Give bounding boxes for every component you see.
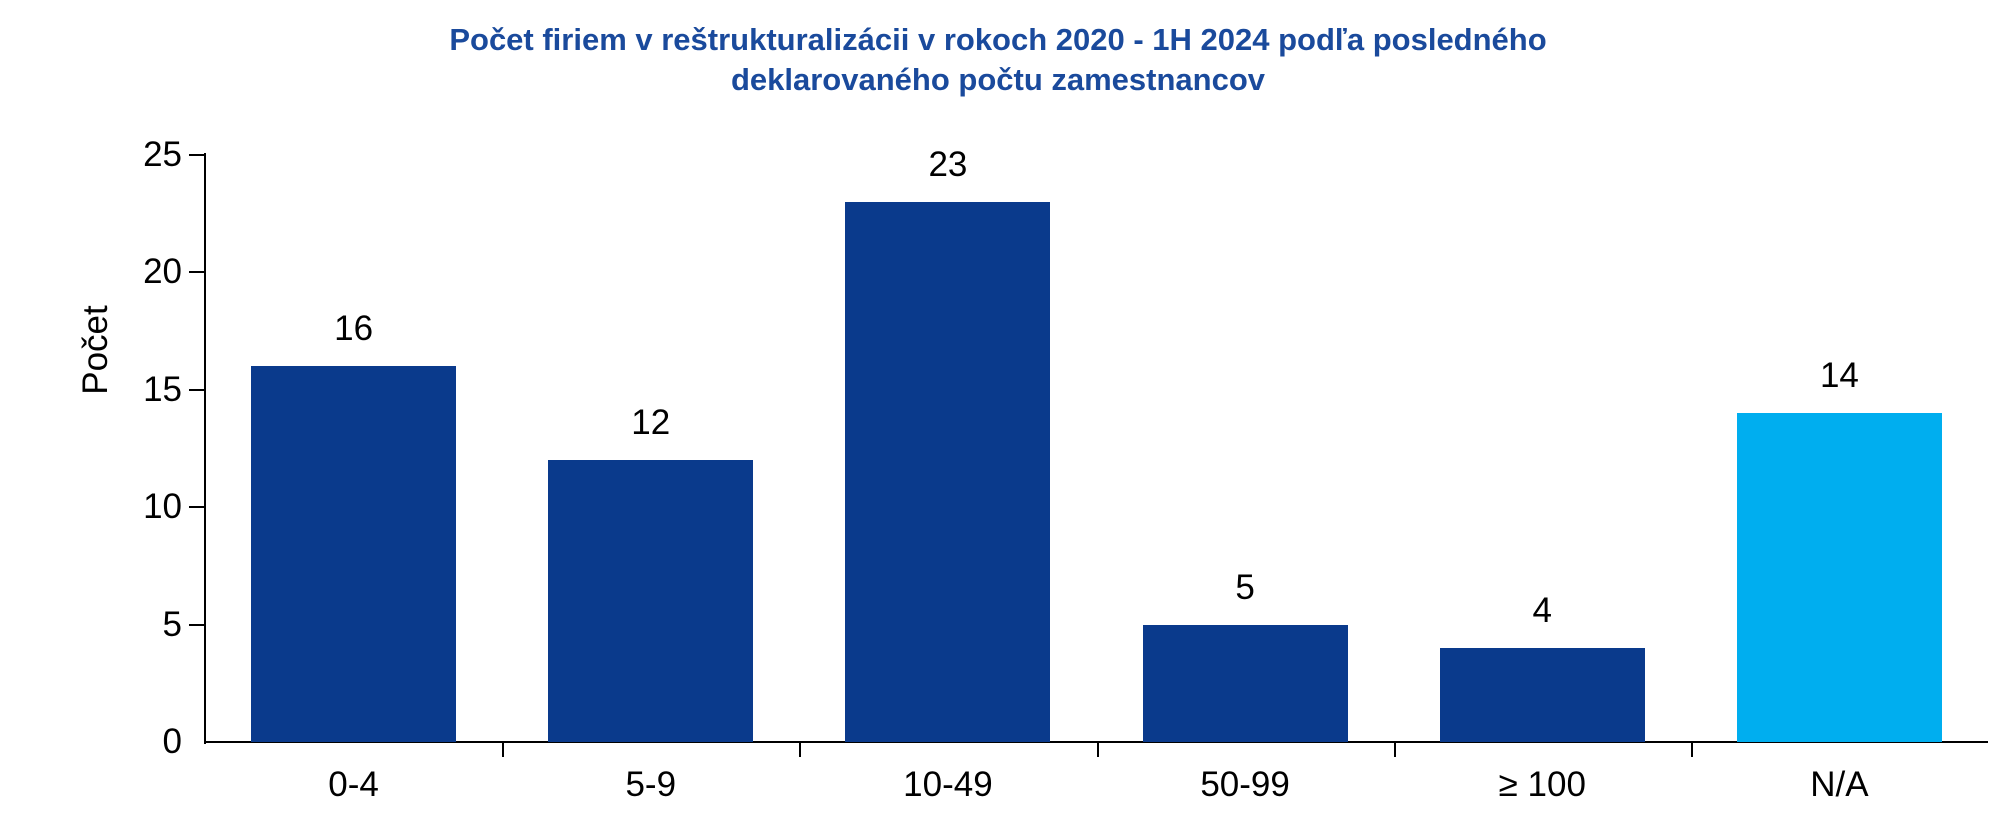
x-axis-category-label: 0-4 [204,765,504,805]
bar-value-label: 16 [254,311,454,346]
plot-area [205,155,1985,742]
bar-value-label: 23 [848,147,1048,182]
y-axis-tick [189,624,205,626]
bar [1440,648,1645,742]
x-axis-category-label: 50-99 [1095,765,1395,805]
y-axis-tick-label: 5 [62,607,182,642]
x-axis-category-label: N/A [1689,765,1989,805]
y-axis-tick-label: 25 [62,137,182,172]
bar-value-label: 12 [551,405,751,440]
bar [1143,625,1348,742]
x-axis-tick [1394,742,1396,757]
y-axis-tick [189,506,205,508]
bar-value-label: 14 [1739,358,1939,393]
chart-figure: Počet firiem v reštrukturalizácii v roko… [0,0,1996,817]
chart-title: Počet firiem v reštrukturalizácii v roko… [0,20,1996,100]
y-axis-tick-label: 15 [62,372,182,407]
x-axis-category-label: ≥ 100 [1392,765,1692,805]
x-axis-category-label: 10-49 [798,765,1098,805]
y-axis-tick-label: 0 [62,724,182,759]
bar [548,460,753,742]
y-axis-tick-label: 20 [62,254,182,289]
y-axis-tick [189,154,205,156]
bar [1737,413,1942,742]
bar [845,202,1050,742]
y-axis-tick-label: 10 [62,489,182,524]
bar [251,366,456,742]
y-axis-tick [189,271,205,273]
x-axis-category-label: 5-9 [501,765,801,805]
x-axis-tick [502,742,504,757]
x-axis-tick [799,742,801,757]
y-axis-tick [189,389,205,391]
chart-title-line-1: Počet firiem v reštrukturalizácii v roko… [0,20,1996,60]
x-axis-tick [1097,742,1099,757]
bar-value-label: 4 [1442,593,1642,628]
bar-value-label: 5 [1145,570,1345,605]
x-axis-tick [1691,742,1693,757]
chart-title-line-2: deklarovaného počtu zamestnancov [0,60,1996,100]
